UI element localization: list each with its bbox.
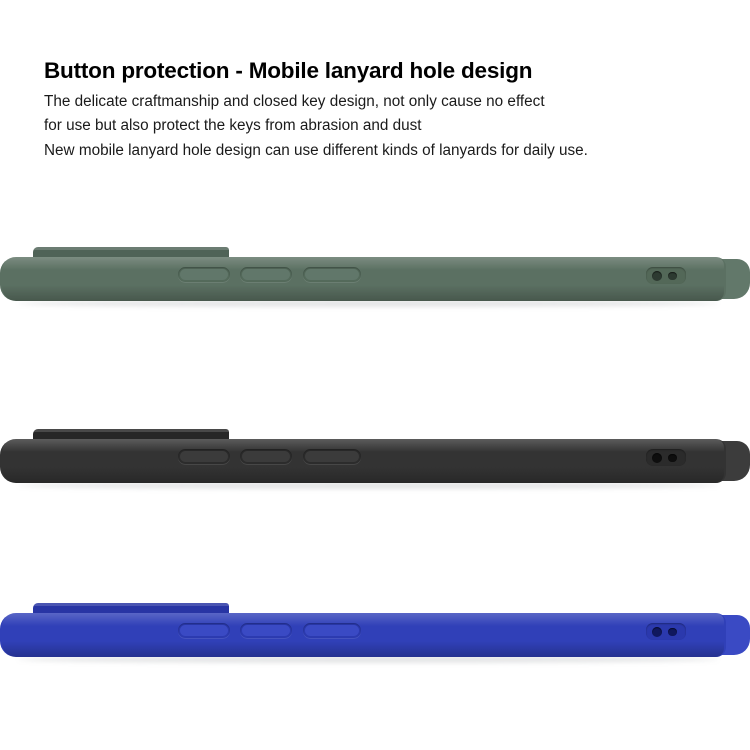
- power-cutout: [303, 449, 361, 464]
- bottom-shade: [2, 467, 724, 483]
- lanyard-hole-large: [652, 271, 662, 281]
- top-highlight: [2, 257, 724, 270]
- product-feature-image: Button protection - Mobile lanyard hole …: [0, 0, 750, 750]
- description-line-1: The delicate craftmanship and closed key…: [44, 90, 724, 115]
- lanyard-hole-plate: [646, 623, 686, 640]
- volume-down-cutout: [240, 449, 292, 464]
- volume-up-cutout: [178, 623, 230, 638]
- case-shadow: [18, 482, 718, 489]
- top-highlight: [2, 439, 724, 452]
- power-cutout: [303, 623, 361, 638]
- bottom-shade: [2, 641, 724, 657]
- volume-up-cutout: [178, 449, 230, 464]
- blue-case: [0, 596, 750, 676]
- description-line-3: New mobile lanyard hole design can use d…: [44, 139, 724, 164]
- lanyard-hole-large: [652, 453, 662, 463]
- lanyard-hole-small: [668, 454, 677, 463]
- lanyard-hole-plate: [646, 449, 686, 466]
- volume-down-cutout: [240, 623, 292, 638]
- top-highlight: [2, 613, 724, 626]
- case-side-body: [0, 613, 726, 657]
- case-shadow: [18, 656, 718, 663]
- lanyard-hole-large: [652, 627, 662, 637]
- volume-down-cutout: [240, 267, 292, 282]
- case-side-body: [0, 257, 726, 301]
- case-side-body: [0, 439, 726, 483]
- power-cutout: [303, 267, 361, 282]
- green-case: [0, 240, 750, 320]
- lanyard-hole-plate: [646, 267, 686, 284]
- marketing-copy: Button protection - Mobile lanyard hole …: [44, 58, 724, 164]
- volume-up-cutout: [178, 267, 230, 282]
- description-line-2: for use but also protect the keys from a…: [44, 114, 724, 139]
- black-case: [0, 422, 750, 502]
- case-shadow: [18, 300, 718, 307]
- lanyard-hole-small: [668, 272, 677, 281]
- bottom-shade: [2, 285, 724, 301]
- lanyard-hole-small: [668, 628, 677, 637]
- page-title: Button protection - Mobile lanyard hole …: [44, 58, 724, 85]
